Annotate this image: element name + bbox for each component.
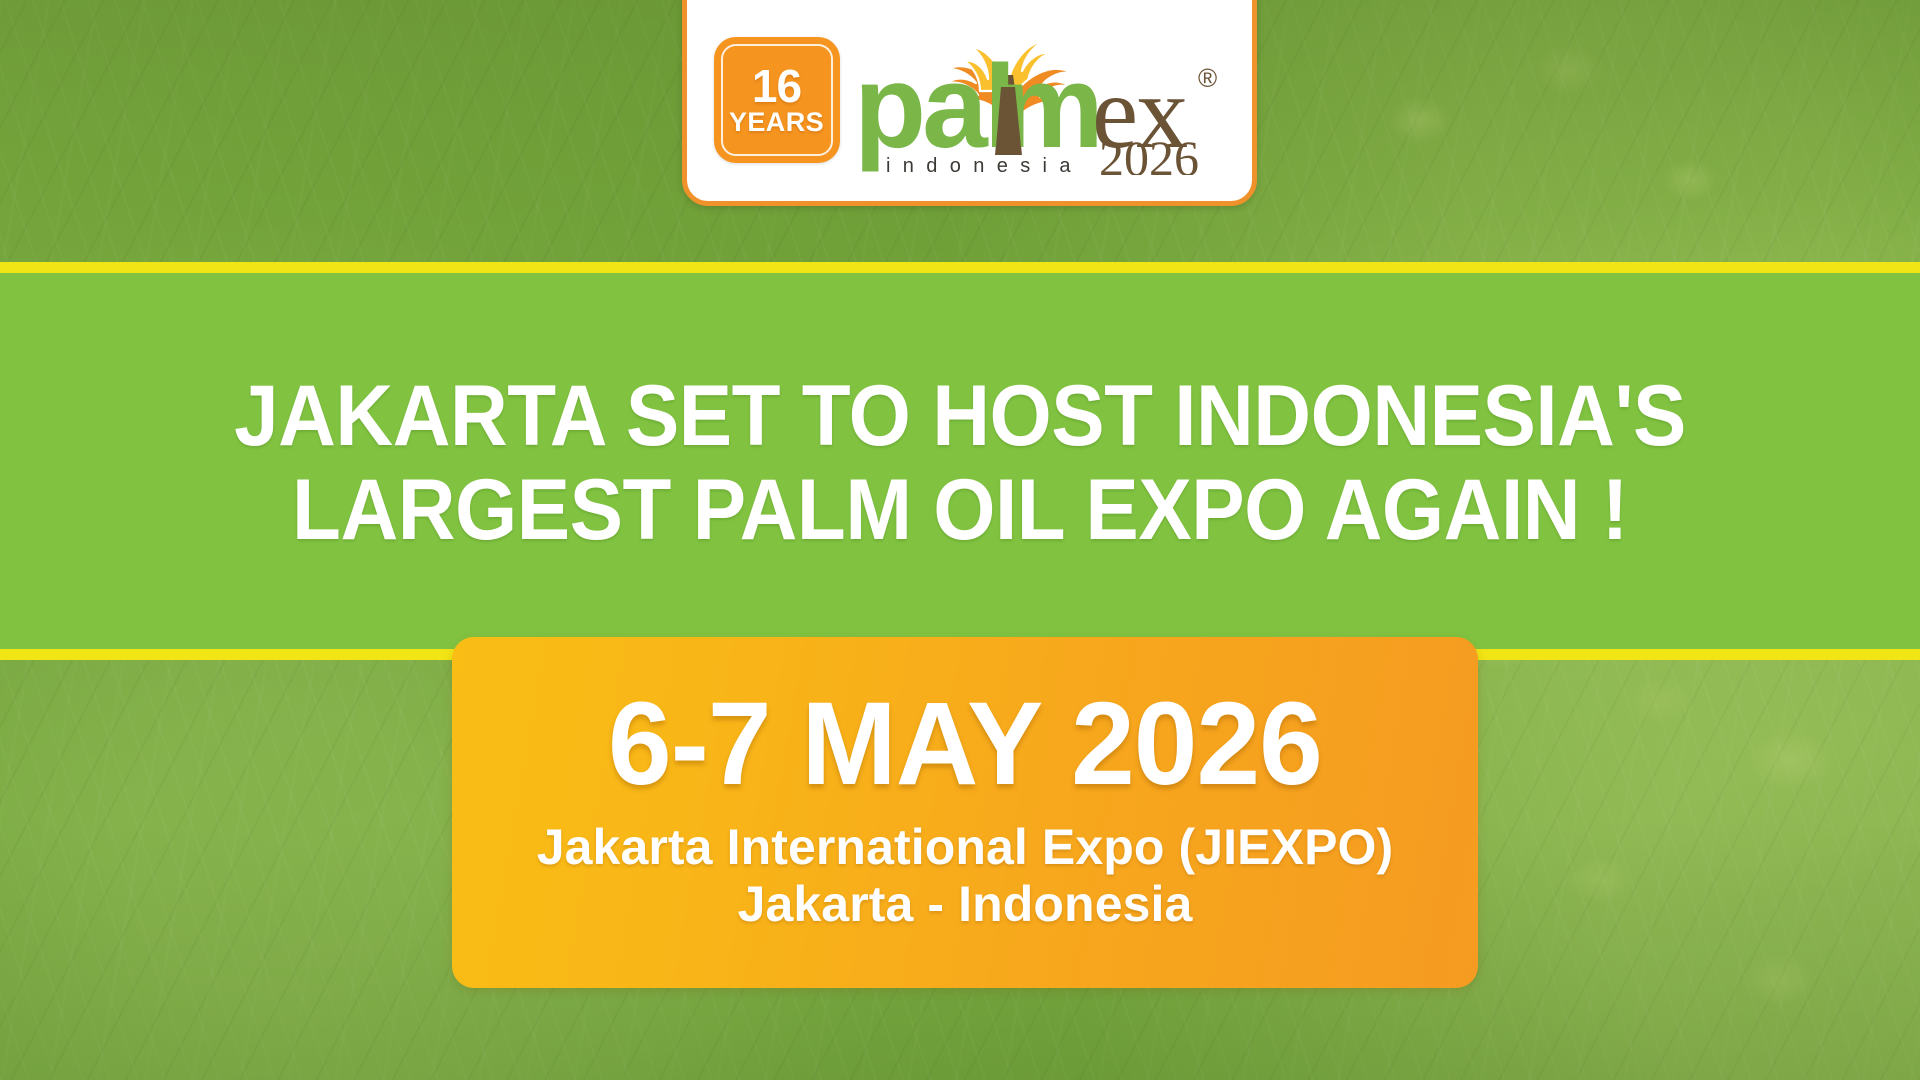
venue-line-1: Jakarta International Expo (JIEXPO) [537,819,1394,876]
headline-line-2: LARGEST PALM OIL EXPO AGAIN ! [67,467,1853,553]
palmex-logo-card: 16 YEARS pal m [682,0,1257,206]
event-details-panel: 6-7 MAY 2026 Jakarta International Expo … [452,637,1478,988]
registered-mark: ® [1198,63,1217,93]
palmex-wordmark-svg: pal m ex ® i n d o n e s i a 2026 [856,25,1226,175]
headline: JAKARTA SET TO HOST INDONESIA'S LARGEST … [67,373,1853,553]
wordmark-year: 2026 [1099,130,1199,175]
promo-banner: 16 YEARS pal m [0,0,1920,1080]
venue-line-2: Jakarta - Indonesia [537,876,1394,933]
divider-stripe-top [0,262,1920,273]
event-venue: Jakarta International Expo (JIEXPO) Jaka… [537,819,1394,933]
anniversary-number: 16 [752,64,801,108]
anniversary-unit: YEARS [729,108,824,136]
event-dates: 6-7 MAY 2026 [608,684,1322,804]
anniversary-badge: 16 YEARS [714,37,840,163]
wordmark-pal: pal [856,41,1013,173]
headline-line-1: JAKARTA SET TO HOST INDONESIA'S [67,373,1853,459]
palmex-wordmark: pal m ex ® i n d o n e s i a 2026 [856,25,1226,175]
wordmark-country: i n d o n e s i a [886,155,1074,175]
